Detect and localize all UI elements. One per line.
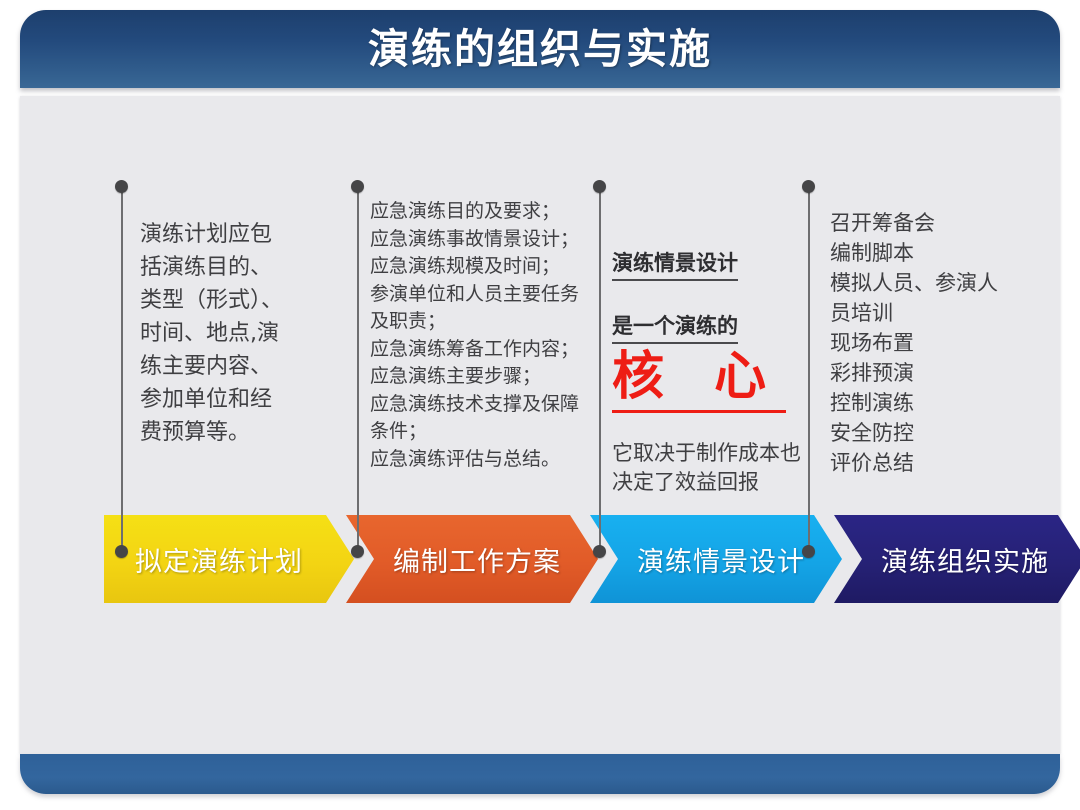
process-step-4[interactable]: 演练组织实施 (834, 515, 1080, 603)
slide-bottom-bar (20, 754, 1060, 794)
text-column-2: 应急演练目的及要求； 应急演练事故情景设计； 应急演练规模及时间； 参演单位和人… (370, 198, 585, 473)
process-step-3-label: 演练情景设计 (611, 540, 821, 579)
connector-dot-bottom-3 (593, 545, 606, 558)
process-step-1-label: 拟定演练计划 (135, 540, 323, 579)
column-2-body: 应急演练目的及要求； 应急演练事故情景设计； 应急演练规模及时间； 参演单位和人… (370, 198, 585, 473)
connector-line-2 (357, 187, 359, 552)
connector-line-1 (121, 187, 123, 552)
text-column-3: 演练情景设计 是一个演练的 核 心 它取决于制作成本也决定了效益回报 (612, 218, 802, 497)
connector-dot-top-3 (593, 180, 606, 193)
process-step-4-label: 演练组织实施 (855, 540, 1065, 579)
column-3-heading: 演练情景设计 是一个演练的 (612, 218, 802, 344)
connector-line-3 (599, 187, 601, 552)
connector-dot-top-4 (802, 180, 815, 193)
process-step-2[interactable]: 编制工作方案 (346, 515, 598, 603)
connector-dot-bottom-1 (115, 545, 128, 558)
column-3-note: 它取决于制作成本也决定了效益回报 (612, 439, 802, 497)
connector-dot-bottom-4 (802, 545, 815, 558)
column-4-body: 召开筹备会 编制脚本 模拟人员、参演人员培训 现场布置 彩排预演 控制演练 安全… (830, 208, 1015, 478)
process-step-1[interactable]: 拟定演练计划 (104, 515, 354, 603)
column-1-body: 演练计划应包括演练目的、类型（形式）、时间、地点,演练主要内容、参加单位和经费预… (140, 218, 290, 449)
connector-dot-top-2 (351, 180, 364, 193)
text-column-1: 演练计划应包括演练目的、类型（形式）、时间、地点,演练主要内容、参加单位和经费预… (140, 218, 290, 449)
process-step-2-label: 编制工作方案 (367, 540, 577, 579)
slide-title-bar: 演练的组织与实施 (20, 10, 1060, 88)
connector-dot-top-1 (115, 180, 128, 193)
connector-line-4 (808, 187, 810, 552)
connector-dot-bottom-2 (351, 545, 364, 558)
process-step-3[interactable]: 演练情景设计 (590, 515, 842, 603)
text-column-4: 召开筹备会 编制脚本 模拟人员、参演人员培训 现场布置 彩排预演 控制演练 安全… (830, 208, 1015, 478)
process-chevron-bar: 拟定演练计划 编制工作方案 演练情景设计 演练组织实施 (104, 515, 1054, 603)
column-3-heading-line2: 是一个演练的 (612, 311, 738, 344)
column-3-core-word: 核 心 (612, 346, 786, 413)
page-title: 演练的组织与实施 (368, 29, 712, 70)
slide-root: 演练的组织与实施 演练计划应包括演练目的、类型（形式）、时间、地点,演练主要内容… (0, 0, 1080, 810)
column-3-heading-line1: 演练情景设计 (612, 248, 738, 281)
